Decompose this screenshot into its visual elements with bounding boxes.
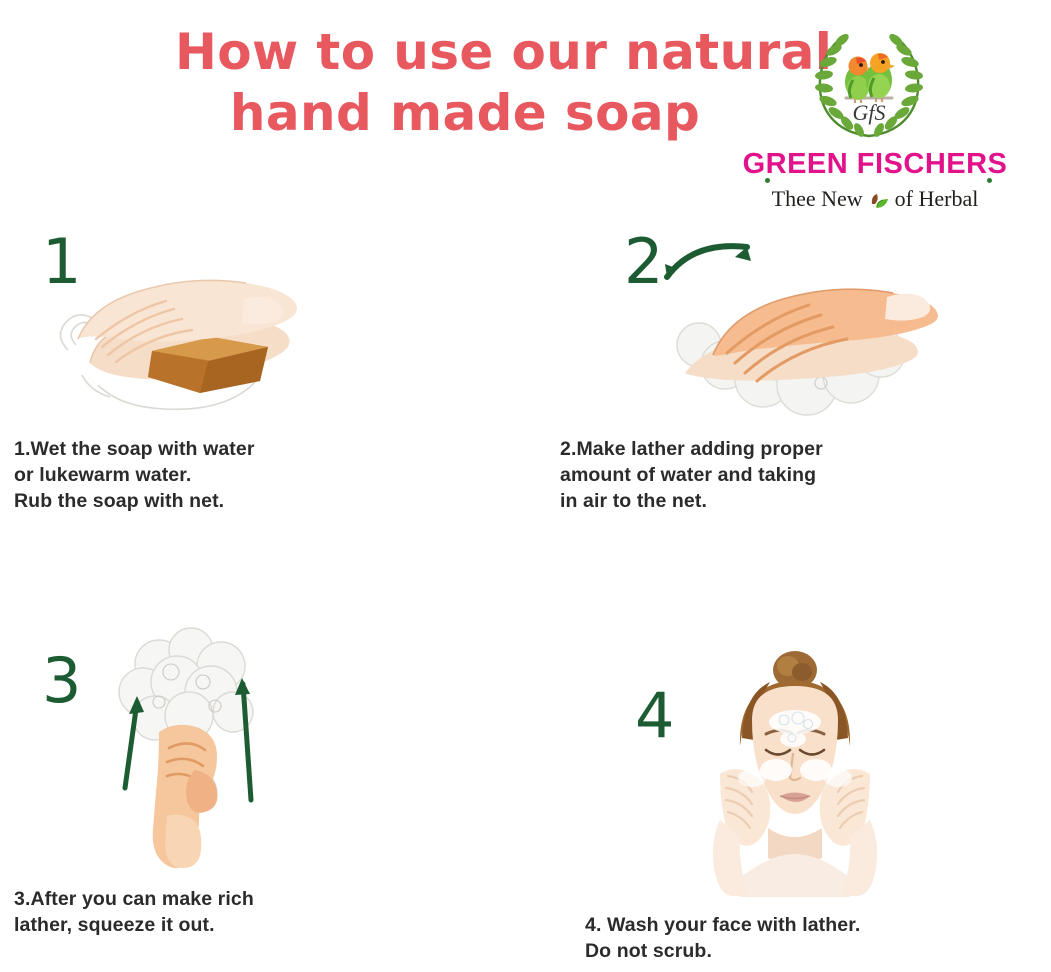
brand-dot-left-icon: [765, 178, 770, 183]
step-1: 1: [0, 215, 520, 545]
woman-washing-face-with-lather-illustration: [680, 642, 910, 897]
title-line-2: hand made soap: [175, 83, 755, 144]
step-2: 2: [525, 215, 1045, 545]
lovebirds-laurel-wreath-emblem: GfS: [808, 22, 930, 144]
header: How to use our natural hand made soap: [0, 0, 1051, 215]
step-4: 4: [525, 600, 1045, 970]
step-caption-3: 3.After you can make rich lather, squeez…: [14, 887, 374, 939]
brand-name: GREEN FISCHERS: [730, 148, 1020, 181]
step-3: 3: [0, 600, 520, 970]
hand-squeezing-rich-lather-with-up-arrows-illustration: [75, 620, 305, 870]
emblem-monogram: GfS: [853, 100, 886, 125]
hands-making-lather-with-curved-arrow-illustration: [655, 233, 975, 423]
step-caption-4: 4. Wash your face with lather. Do not sc…: [585, 913, 985, 965]
step-number-4: 4: [635, 685, 674, 747]
step-caption-2: 2.Make lather adding proper amount of wa…: [560, 437, 940, 515]
tagline-text-before: Thee New: [772, 186, 863, 212]
step-caption-1: 1.Wet the soap with water or lukewarm wa…: [14, 437, 374, 515]
brand-logo: GfS GREEN FISCHERS Thee New of Herbal: [730, 18, 1020, 208]
brand-tagline: Thee New of Herbal: [730, 186, 1020, 212]
hands-rubbing-soap-bar-with-net-illustration: [38, 235, 338, 425]
title-line-1: How to use our natural: [175, 22, 755, 83]
infographic-page: How to use our natural hand made soap: [0, 0, 1051, 972]
page-title: How to use our natural hand made soap: [175, 22, 755, 144]
steps-grid: 1: [0, 215, 1051, 972]
curved-arrow-icon: [665, 246, 751, 277]
brand-dot-right-icon: [987, 178, 992, 183]
sprout-icon: [868, 191, 890, 211]
tagline-text-after: of Herbal: [895, 186, 979, 212]
